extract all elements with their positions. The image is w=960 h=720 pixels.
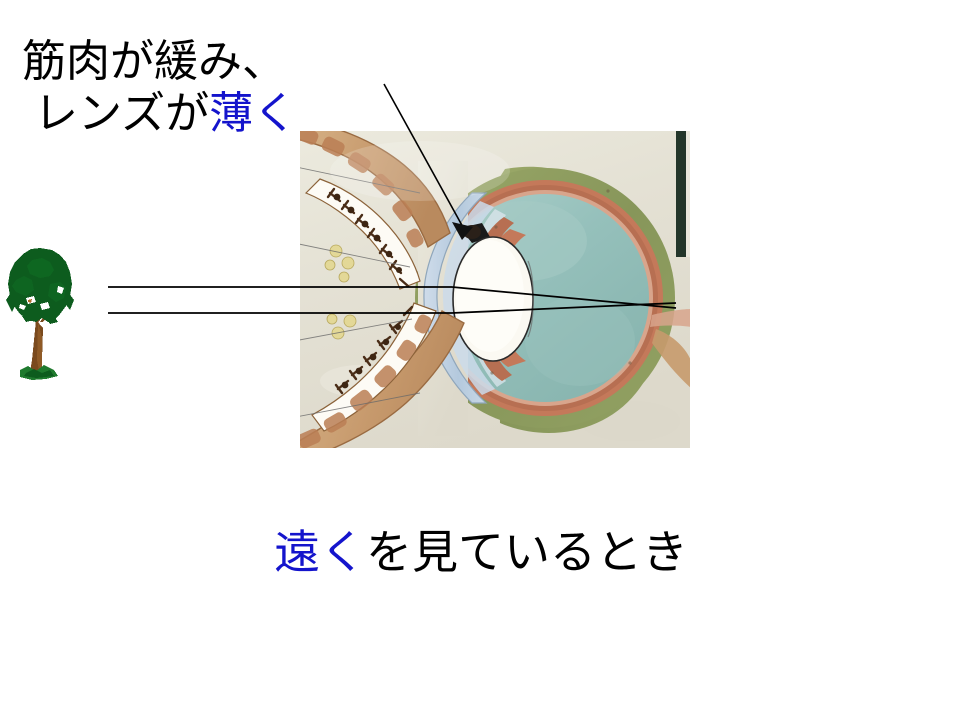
slide-canvas: 筋肉が緩み、 レンズが薄く 遠くを見ているとき [0,0,960,720]
title-line-1: 筋肉が緩み、 [22,36,297,88]
title-line-1-text: 筋肉が緩み、 [22,36,286,87]
caption-black-text: を見ているとき [366,525,688,579]
title-block: 筋肉が緩み、 レンズが薄く [22,36,297,140]
title-line-2-black-text: レンズが [34,88,209,139]
title-line-2: レンズが薄く [22,88,297,140]
caption-blue-text: 遠く [274,525,366,579]
caption-line: 遠くを見ているとき [274,524,688,580]
caption-block: 遠くを見ているとき [274,524,688,580]
tree-illustration [2,242,80,384]
title-line-2-blue-text: 薄く [209,88,297,139]
eye-anatomy-photo [300,131,690,448]
